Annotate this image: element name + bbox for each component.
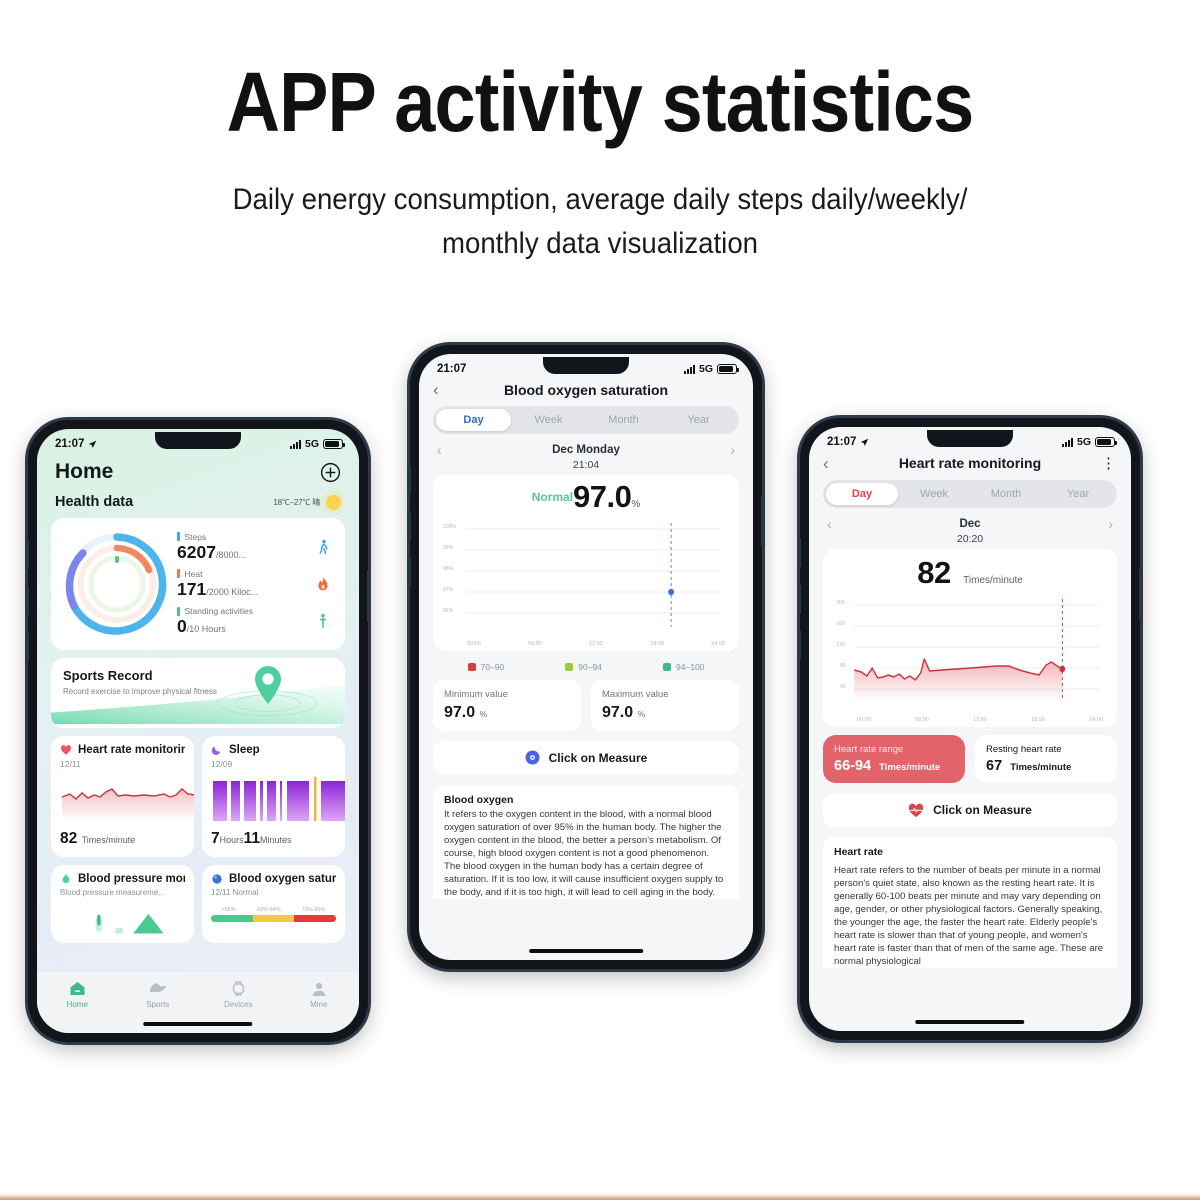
more-vertical-icon[interactable]: ⋮ [1097,454,1117,472]
tab-label: Home [67,1000,88,1009]
network-label: 5G [699,363,713,375]
svg-text:100%: 100% [443,524,456,530]
card-subtitle: 12/11 Normal [211,888,336,897]
x-tick: 18:00 [1031,717,1045,723]
measure-button[interactable]: Click on Measure [433,741,739,775]
stat-standing: Standing activities 0/10 Hours [177,606,331,636]
segment-year[interactable]: Year [661,409,736,431]
metric-cards-row-2: Blood pressure mor Blood pressure measur… [51,865,345,943]
location-arrow-icon [860,438,869,447]
stat-label: Steps [185,532,207,542]
phone-heart-rate-screen: 21:07 5G ‹ Heart rate monitoring ⋮ Day W… [800,418,1140,1040]
chevron-left-icon[interactable]: ‹ [827,516,832,532]
heart-rate-chart-svg: 200 160 120 80 40 [831,593,1109,711]
card-hours-unit: Hours [220,835,244,845]
blood-pressure-mini-card[interactable]: Blood pressure mor Blood pressure measur… [51,865,194,943]
segment-week[interactable]: Week [511,409,586,431]
measure-button-label: Click on Measure [933,803,1032,817]
measure-button[interactable]: Click on Measure [823,793,1117,827]
page-heading: Blood oxygen saturation [453,382,719,398]
activity-rings-card[interactable]: Steps 6207/8000... Heat 171/2000 Kiloc..… [51,518,345,650]
notch [927,430,1013,447]
heart-icon [60,744,72,756]
current-date: Dec Monday [552,444,620,456]
home-icon [69,980,86,997]
date-navigator: ‹ Dec › [809,508,1131,533]
bp-illustration [60,905,185,937]
battery-icon [323,439,343,449]
legend-label: 90–94 [578,662,602,672]
nav-bar: ‹ Blood oxygen saturation [419,377,753,406]
blue-dot-icon [525,750,540,765]
activity-rings-chart [57,528,177,640]
heart-rate-mini-card[interactable]: Heart rate monitorin 12/11 82 Times/minu… [51,736,194,857]
legend-item: 70–90 [468,662,505,672]
bottom-edge-strip [0,1192,1200,1200]
weather-text: 18℃–27℃ 晴 [273,497,320,508]
poster-root: APP activity statistics Daily energy con… [0,0,1200,1200]
minimum-unit: % [480,709,488,719]
tab-mine[interactable]: Mine [279,980,360,1009]
minimum-value: 97.0 [444,704,475,721]
standing-person-icon [315,613,331,629]
legend-item: 94–100 [663,662,704,672]
reading-time: 21:04 [419,459,753,475]
heart-rate-summary-row: Heart rate range 66-94 Times/minute Rest… [823,735,1117,783]
network-label: 5G [305,438,319,450]
blood-oxygen-mini-card[interactable]: Blood oxygen satur 12/11 Normal >95% 90%… [202,865,345,943]
stat-steps: Steps 6207/8000... [177,532,331,562]
stat-goal: /2000 Kiloc... [206,587,258,597]
description-body: It refers to the oxygen content in the b… [444,808,728,899]
card-title: Sleep [229,744,260,756]
x-tick: 00:00 [857,717,871,723]
x-tick: 06:00 [528,641,542,647]
segment-month[interactable]: Month [586,409,661,431]
reading-unit: Times/minute [963,575,1023,586]
oxygen-bar [211,915,336,922]
current-reading: Normal97.0% [433,475,739,515]
heart-rate-chart: 200 160 120 80 40 00:00 06:00 12:00 18:0… [823,591,1117,727]
page-subtitle: Daily energy consumption, average daily … [214,178,987,265]
status-time: 21:07 [55,438,84,450]
x-tick: 12:00 [973,717,987,723]
maximum-value-card: Maximum value 97.0 % [591,680,739,731]
phone-home-screen: 21:07 5G Home Health data [28,420,368,1042]
card-subtitle: Blood pressure measureme... [60,888,185,897]
walking-person-icon [315,539,331,555]
minimum-label: Minimum value [444,689,570,701]
x-tick: 24:00 [1089,717,1103,723]
heart-rate-description: Heart rate Heart rate refers to the numb… [823,837,1117,968]
oxygen-chart-svg: 100% 99% 98% 97% 96% [441,517,731,635]
current-reading: 82 Times/minute [823,549,1117,591]
mid-screen: 21:07 5G ‹ Blood oxygen saturation Day W… [419,354,753,960]
stat-label: Standing activities [185,606,254,616]
card-unit: Times/minute [82,835,136,845]
phone-blood-oxygen-screen: 21:07 5G ‹ Blood oxygen saturation Day W… [410,345,762,969]
legend-label: 70–90 [481,662,505,672]
page-heading: Heart rate monitoring [843,455,1097,471]
card-value: 82 [60,830,77,847]
shoe-icon [149,980,167,997]
card-hours: 7 [211,830,220,847]
health-data-row: Health data 18℃–27℃ 晴 [37,488,359,518]
watch-icon [231,980,246,997]
home-title: Home [55,460,113,484]
tab-label: Mine [310,1000,327,1009]
reading-value: 82 [917,555,950,590]
notch [155,432,241,449]
svg-text:200: 200 [836,600,844,606]
sports-record-card[interactable]: Sports Record Record exercise to improve… [51,658,345,728]
heart-rate-x-axis: 00:00 06:00 12:00 18:00 24:00 [831,716,1109,723]
svg-text:120: 120 [836,642,844,648]
sleep-bars [211,777,345,821]
notch [543,357,629,374]
oxygen-chart: 100% 99% 98% 97% 96% 00:00 06:00 12:00 1… [433,515,739,651]
oxygen-x-axis: 00:00 06:00 12:00 18:00 24:00 [441,640,731,647]
stat-value: 171 [177,579,206,599]
flame-icon [315,576,331,592]
chevron-right-icon[interactable]: › [1108,516,1113,532]
signal-bars-icon [290,440,301,449]
tab-devices[interactable]: Devices [198,980,279,1009]
status-time: 21:07 [437,363,466,375]
x-tick: 24:00 [711,641,725,647]
range-unit: Times/minute [879,762,940,773]
stat-value: 0 [177,616,187,636]
segment-year[interactable]: Year [1042,483,1114,505]
oxygen-chart-card: Normal97.0% 100% [433,475,739,651]
measure-button-label: Click on Measure [549,751,648,765]
nav-bar: ‹ Heart rate monitoring ⋮ [809,450,1131,480]
battery-icon [1095,437,1115,447]
card-title: Blood pressure mor [78,873,185,885]
left-screen: 21:07 5G Home Health data [37,429,359,1033]
period-segmented-control: Day Week Month Year [823,480,1117,508]
tab-label: Sports [146,1000,169,1009]
resting-value: 67 [986,758,1002,774]
segment-week[interactable]: Week [898,483,970,505]
card-title: Heart rate monitorin [78,744,185,756]
battery-icon [717,364,737,374]
home-indicator [143,1022,252,1026]
chevron-right-icon[interactable]: › [730,442,735,458]
heart-rate-chart-card: 82 Times/minute [823,549,1117,727]
svg-text:99%: 99% [443,545,454,551]
svg-text:40: 40 [840,684,846,690]
bar-label: 90%-94% [257,907,281,913]
location-arrow-icon [88,440,97,449]
weather-widget: 18℃–27℃ 晴 [273,495,341,510]
reading-status: Normal [532,490,573,504]
chevron-left-icon[interactable]: ‹ [433,381,453,398]
metric-cards-row-1: Heart rate monitorin 12/11 82 Times/minu… [51,736,345,857]
reading-value: 97.0 [573,479,631,514]
maximum-label: Maximum value [602,689,728,701]
stat-label: Heat [185,569,203,579]
tab-label: Devices [224,1000,252,1009]
description-heading: Blood oxygen [444,794,728,806]
card-title: Blood oxygen satur [229,873,336,885]
current-date: Dec [959,518,980,530]
map-pin-icon [249,664,287,708]
card-date: 12/09 [211,759,336,769]
right-screen: 21:07 5G ‹ Heart rate monitoring ⋮ Day W… [809,427,1131,1031]
stat-goal: /8000... [216,550,246,560]
sun-icon [326,495,341,510]
x-tick: 18:00 [650,641,664,647]
chevron-left-icon[interactable]: ‹ [823,455,843,472]
bar-label: 70%-89% [302,907,326,913]
sports-title: Sports Record [63,668,333,683]
page-title: APP activity statistics [72,58,1128,146]
home-indicator [529,949,643,953]
home-header: Home [37,452,359,488]
description-heading: Heart rate [834,846,1106,858]
sleep-mini-card[interactable]: Sleep 12/09 [202,736,345,857]
sports-subtitle: Record exercise to improve physical fitn… [63,687,333,696]
svg-text:80: 80 [840,663,846,669]
signal-bars-icon [1062,438,1073,447]
date-navigator: ‹ Dec Monday › [419,434,753,459]
blood-oxygen-description: Blood oxygen It refers to the oxygen con… [433,785,739,899]
plus-circle-icon[interactable] [320,462,341,483]
tab-home[interactable]: Home [37,980,118,1009]
legend-item: 90–94 [565,662,602,672]
minimum-value-card: Minimum value 97.0 % [433,680,581,731]
stat-heat: Heat 171/2000 Kiloc... [177,569,331,599]
minmax-row: Minimum value 97.0 % Maximum value 97.0 … [433,680,739,731]
segment-day[interactable]: Day [826,483,898,505]
x-tick: 06:00 [915,717,929,723]
signal-bars-icon [684,365,695,374]
card-minutes-unit: Minutes [260,835,292,845]
resting-label: Resting heart rate [986,744,1106,755]
resting-heart-rate-chip: Resting heart rate 67 Times/minute [975,735,1117,783]
stat-value: 6207 [177,542,216,562]
activity-stats-list: Steps 6207/8000... Heat 171/2000 Kiloc..… [177,532,335,636]
status-time: 21:07 [827,436,856,448]
card-minutes: 11 [244,830,260,847]
stat-goal: /10 Hours [187,624,226,634]
range-label: Heart rate range [834,744,954,755]
oxygen-bar-labels: >95% 90%-94% 70%-89% [211,907,336,913]
moon-icon [211,744,223,756]
description-body: Heart rate refers to the number of beats… [834,864,1106,968]
segment-day[interactable]: Day [436,409,511,431]
tab-sports[interactable]: Sports [118,980,199,1009]
health-data-label: Health data [55,494,133,510]
svg-text:97%: 97% [443,587,454,593]
reading-unit: % [631,499,640,510]
period-segmented-control: Day Week Month Year [433,406,739,434]
heartbeat-icon [908,803,924,818]
legend-label: 94–100 [676,662,704,672]
bar-label: >95% [222,907,236,913]
range-value: 66-94 [834,758,871,774]
resting-unit: Times/minute [1010,762,1071,773]
heart-rate-line [60,777,194,821]
reading-time: 20:20 [809,533,1131,549]
circle-blue-icon [211,873,223,885]
x-tick: 00:00 [467,641,481,647]
x-tick: 12:00 [589,641,603,647]
segment-month[interactable]: Month [970,483,1042,505]
home-indicator [915,1020,1024,1024]
person-icon [311,980,327,997]
svg-text:160: 160 [836,621,844,627]
droplet-icon [60,873,72,885]
card-date: 12/11 [60,759,185,769]
maximum-unit: % [638,709,646,719]
network-label: 5G [1077,436,1091,448]
maximum-value: 97.0 [602,704,633,721]
chevron-left-icon[interactable]: ‹ [437,442,442,458]
oxygen-legend: 70–90 90–94 94–100 [419,659,753,680]
heart-rate-range-chip: Heart rate range 66-94 Times/minute [823,735,965,783]
svg-text:98%: 98% [443,566,454,572]
svg-text:96%: 96% [443,608,454,614]
